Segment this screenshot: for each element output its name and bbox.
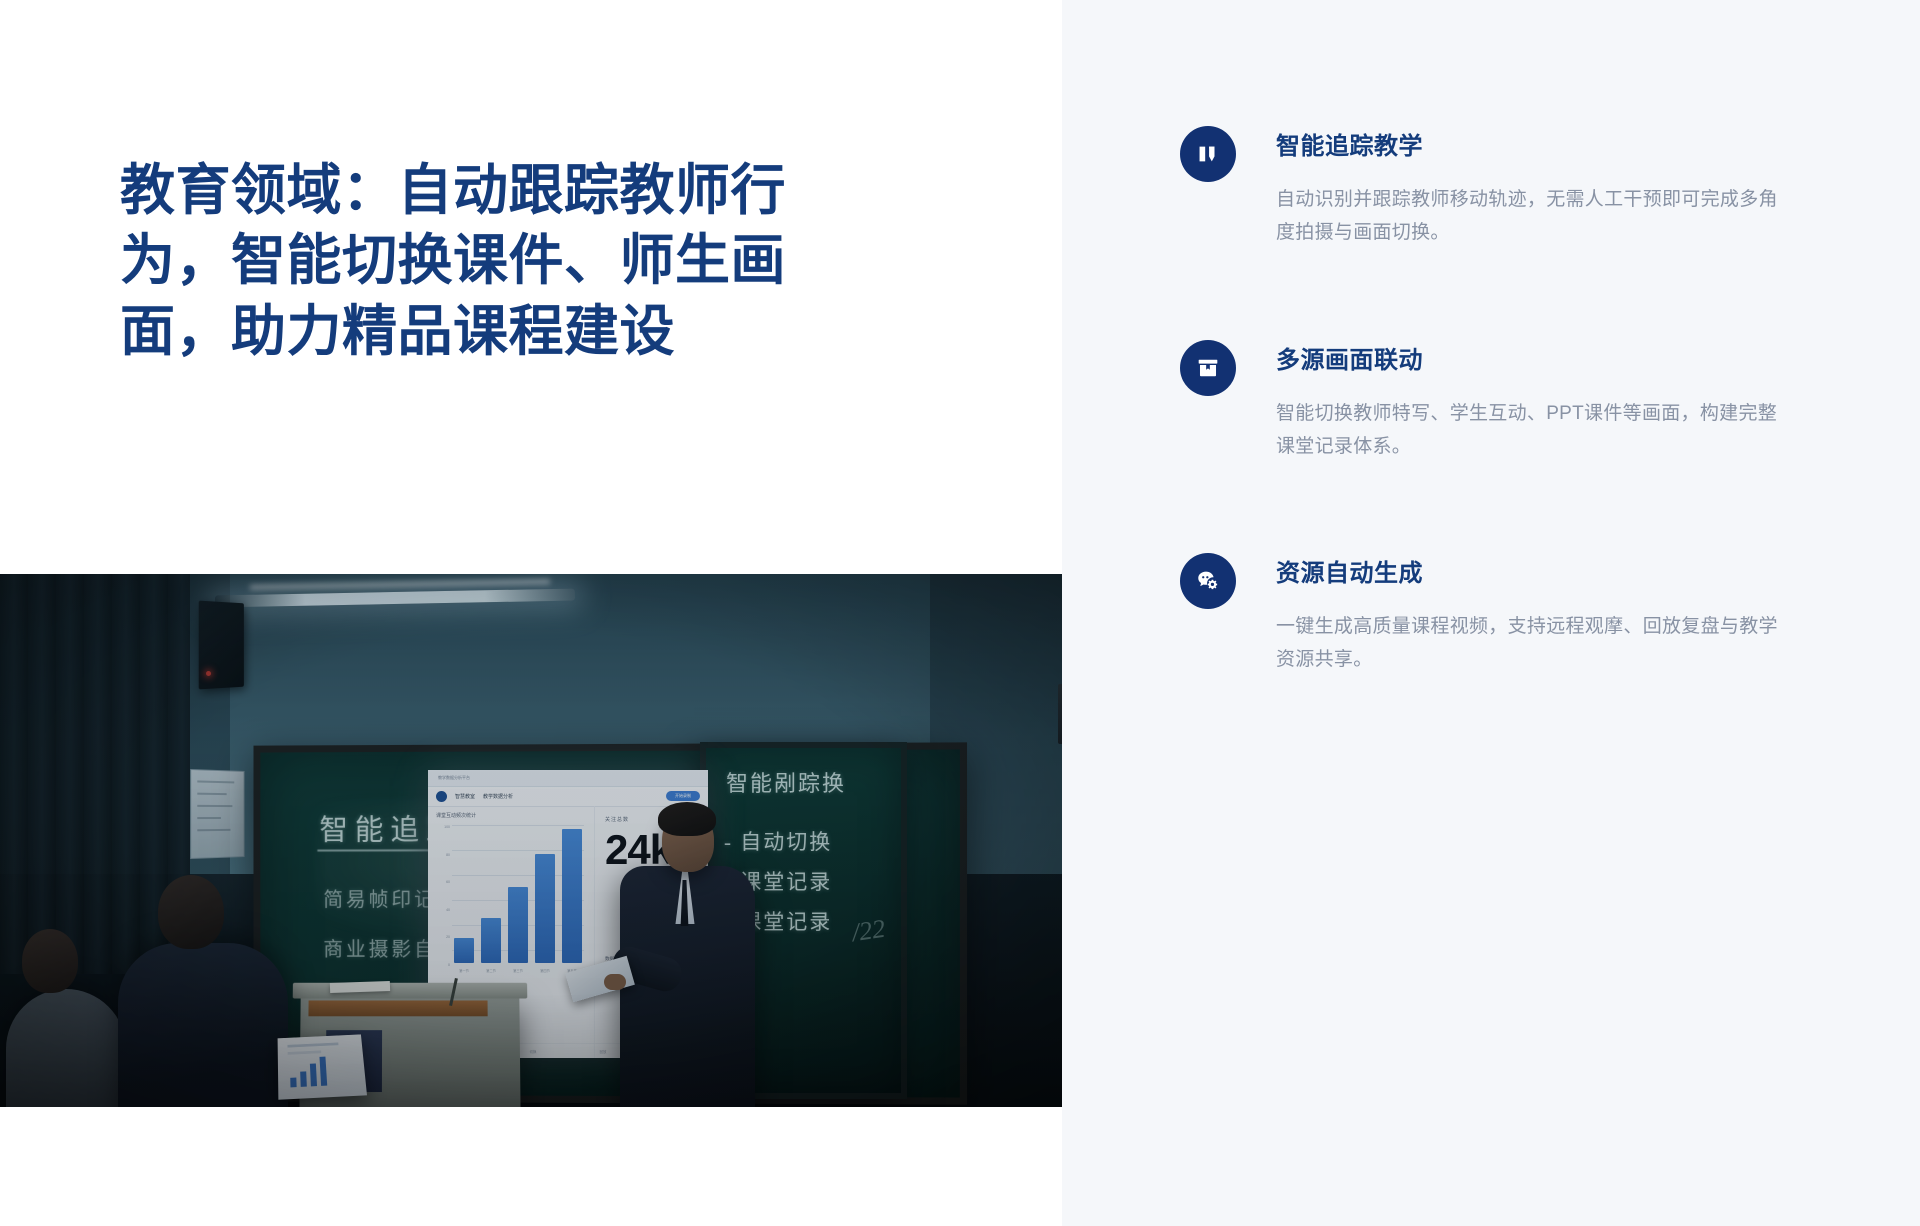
chart-bar [562,829,582,963]
student-tablet [278,1034,367,1099]
feature-desc-1: 自动识别并跟踪教师移动轨迹，无需人工干预即可完成多角度拍摄与画面切换。 [1276,183,1796,250]
chart-x-label: 第二节 [481,968,501,973]
teacher-hair [658,802,716,836]
screen-nav-brand: 智慧教室 [455,793,475,800]
feature-title-2: 多源画面联动 [1276,340,1840,375]
student-tablet-line-1 [287,1043,338,1048]
screen-topbar: 教学数据分析平台 [428,770,708,787]
chart-x-label: 第三节 [508,968,528,973]
chart-y-tick: 0 [448,963,450,967]
chalkboard-right-bullet-1: - 自动切换 [724,826,832,856]
chart-x-label: 第一节 [454,968,474,973]
feature-text-3: 资源自动生成 一键生成高质量课程视频，支持远程观摩、回放复盘与教学资源共享。 [1276,551,1840,677]
screen-footer-item: 回放 [600,1049,607,1054]
left-content-panel: 教育领域：自动跟踪教师行为，智能切换课件、师生画面，助力精品课程建设 智能追踪 [0,0,1062,1226]
archive-box-icon [1180,340,1236,396]
feature-item-1: 智能追踪教学 自动识别并跟踪教师移动轨迹，无需人工干预即可完成多角度拍摄与画面切… [1180,124,1840,250]
feature-desc-3: 一键生成高质量课程视频，支持远程观摩、回放复盘与教学资源共享。 [1276,610,1796,677]
chat-gear-icon [1180,553,1236,609]
chart-bar [454,938,474,963]
screen-navbar: 智慧教室 教学数据分析 开始录制 [428,786,708,807]
noticeboard [190,769,244,859]
chalkboard-scribble: /22 [850,914,887,948]
chart-y-axis: 100806040200 [436,825,450,963]
student-figure-1 [6,989,126,1107]
chart-y-tick: 80 [446,853,450,857]
screen-footer-item: 切换 [530,1049,537,1054]
screen-logo-icon [436,791,447,802]
lectern-wood-trim [308,1000,487,1016]
chart-y-tick: 20 [446,935,450,939]
screen-topbar-title: 教学数据分析平台 [438,775,470,781]
speaker-led-icon [206,671,211,676]
chart-bars [454,823,582,963]
student-head-2 [158,875,224,949]
chart-y-tick: 40 [446,908,450,912]
ruler-pen-icon [1180,126,1236,182]
page-title: 教育领域：自动跟踪教师行为，智能切换课件、师生画面，助力精品课程建设 [120,155,880,366]
student-figure-2 [118,943,288,1107]
features-panel: 智能追踪教学 自动识别并跟踪教师移动轨迹，无需人工干预即可完成多角度拍摄与画面切… [1062,0,1920,1226]
lectern-top [293,983,528,999]
landing-page-section: 教育领域：自动跟踪教师行为，智能切换课件、师生画面，助力精品课程建设 智能追踪 [0,0,1920,1226]
chart-x-label: 第四节 [535,968,555,973]
feature-desc-2: 智能切换教师特写、学生互动、PPT课件等画面，构建完整课堂记录体系。 [1276,397,1796,464]
chart-x-labels: 第一节第二节第三节第四节第五节 [454,968,582,973]
classroom-photo: 智能追踪 简易帧印记 商业摄影自拍作品 智能剐踪换 - 自动切换 - 课堂记录 … [0,574,1062,1107]
chalkboard-left-bullet-1: 简易帧印记 [323,883,437,912]
chart-bar [508,887,528,963]
feature-item-3: 资源自动生成 一键生成高质量课程视频，支持远程观摩、回放复盘与教学资源共享。 [1180,551,1840,677]
feature-item-2: 多源画面联动 智能切换教师特写、学生互动、PPT课件等画面，构建完整课堂记录体系… [1180,338,1840,464]
screen-nav-item: 教学数据分析 [483,793,513,800]
chart-bar [481,918,501,963]
wall-speaker-icon [199,601,244,690]
chart-y-tick: 100 [444,825,450,829]
feature-text-1: 智能追踪教学 自动识别并跟踪教师移动轨迹，无需人工干预即可完成多角度拍摄与画面切… [1276,124,1840,250]
lectern-papers [330,981,390,993]
chart-y-tick: 60 [446,880,450,884]
chart-title: 课堂互动频次统计 [436,812,586,819]
feature-title-3: 资源自动生成 [1276,553,1840,588]
chalkboard-right-title: 智能剐踪换 [726,766,846,798]
chart-bar [535,854,555,963]
teacher-hand [604,974,626,990]
student-tablet-chart [290,1056,327,1088]
student-head-1 [22,929,78,993]
feature-title-1: 智能追踪教学 [1276,126,1840,161]
student-tablet-line-2 [288,1050,322,1054]
screen-record-button: 开始录制 [666,791,700,801]
bar-chart: 100806040200 第一节第二节第三节第四节第五节 [436,825,586,975]
feature-text-2: 多源画面联动 智能切换教师特写、学生互动、PPT课件等画面，构建完整课堂记录体系… [1276,338,1840,464]
